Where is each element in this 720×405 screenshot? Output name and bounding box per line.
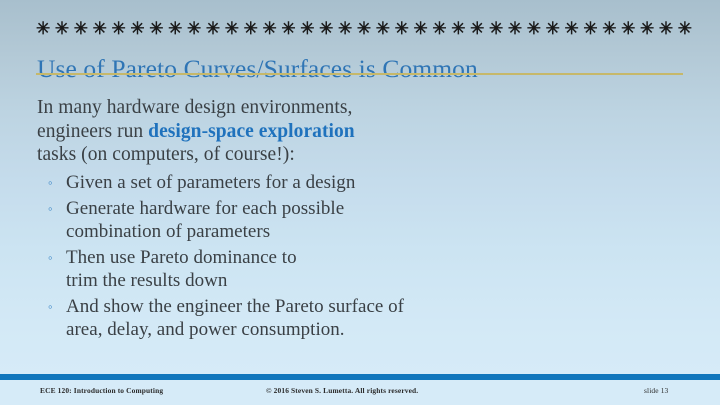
asterisk-icon: ✳ [206, 19, 220, 39]
bullet-list: ◦ Given a set of parameters for a design… [37, 171, 687, 341]
lead-line-1: In many hardware design environments, [37, 96, 687, 120]
lead-line-3: tasks (on computers, of course!): [37, 143, 687, 167]
list-item: ◦ Generate hardware for each possible co… [46, 197, 687, 243]
lead-paragraph: In many hardware design environments, en… [37, 96, 687, 167]
asterisk-icon: ✳ [508, 19, 522, 39]
asterisk-icon: ✳ [36, 19, 50, 39]
asterisk-icon: ✳ [281, 19, 295, 39]
asterisk-icon: ✳ [621, 19, 635, 39]
asterisk-icon: ✳ [602, 19, 616, 39]
asterisk-icon: ✳ [187, 19, 201, 39]
asterisk-icon: ✳ [74, 19, 88, 39]
footer-accent-bar [0, 374, 720, 380]
list-item-line: Generate hardware for each possible [66, 197, 687, 220]
list-item-line: Then use Pareto dominance to [66, 246, 687, 269]
asterisk-icon: ✳ [659, 19, 673, 39]
list-item-line: combination of parameters [66, 220, 687, 243]
asterisk-icon: ✳ [678, 19, 692, 39]
asterisk-icon: ✳ [300, 19, 314, 39]
asterisk-icon: ✳ [55, 19, 69, 39]
asterisk-icon: ✳ [149, 19, 163, 39]
footer-slide-number: slide 13 [644, 383, 668, 399]
list-item-line: trim the results down [66, 269, 687, 292]
asterisk-icon: ✳ [319, 19, 333, 39]
list-item-line: Given a set of parameters for a design [66, 171, 687, 194]
hollow-circle-bullet-icon: ◦ [48, 171, 53, 194]
list-item-line: area, delay, and power consumption. [66, 318, 687, 341]
list-item: ◦ Given a set of parameters for a design [46, 171, 687, 194]
asterisk-icon: ✳ [225, 19, 239, 39]
slide-body: In many hardware design environments, en… [37, 96, 687, 344]
asterisk-icon: ✳ [414, 19, 428, 39]
hollow-circle-bullet-icon: ◦ [48, 246, 53, 269]
asterisk-icon: ✳ [395, 19, 409, 39]
asterisk-icon: ✳ [565, 19, 579, 39]
lead-line-2-prefix: engineers run [37, 121, 148, 142]
asterisk-icon: ✳ [338, 19, 352, 39]
hollow-circle-bullet-icon: ◦ [48, 295, 53, 318]
asterisk-icon: ✳ [583, 19, 597, 39]
asterisk-icon: ✳ [640, 19, 654, 39]
footer-copyright: © 2016 Steven S. Lumetta. All rights res… [266, 383, 418, 399]
asterisk-icon: ✳ [432, 19, 446, 39]
asterisk-icon: ✳ [168, 19, 182, 39]
asterisk-divider-decoration: ✳✳✳✳✳✳✳✳✳✳✳✳✳✳✳✳✳✳✳✳✳✳✳✳✳✳✳✳✳✳✳✳✳✳✳ [36, 19, 692, 39]
slide-footer: ECE 120: Introduction to Computing © 201… [0, 383, 720, 399]
lead-highlight-term: design-space exploration [148, 121, 355, 142]
asterisk-icon: ✳ [489, 19, 503, 39]
asterisk-icon: ✳ [546, 19, 560, 39]
list-item: ◦ Then use Pareto dominance to trim the … [46, 246, 687, 292]
asterisk-icon: ✳ [244, 19, 258, 39]
list-item: ◦ And show the engineer the Pareto surfa… [46, 295, 687, 341]
footer-course-label: ECE 120: Introduction to Computing [40, 383, 163, 399]
asterisk-icon: ✳ [527, 19, 541, 39]
asterisk-icon: ✳ [376, 19, 390, 39]
asterisk-icon: ✳ [130, 19, 144, 39]
asterisk-icon: ✳ [263, 19, 277, 39]
lead-line-2: engineers run design-space exploration [37, 120, 687, 144]
page-title: Use of Pareto Curves/Surfaces is Common [37, 54, 697, 84]
hollow-circle-bullet-icon: ◦ [48, 197, 53, 220]
list-item-line: And show the engineer the Pareto surface… [66, 295, 687, 318]
title-underline-divider [36, 73, 683, 75]
presentation-slide: ✳✳✳✳✳✳✳✳✳✳✳✳✳✳✳✳✳✳✳✳✳✳✳✳✳✳✳✳✳✳✳✳✳✳✳ Use … [0, 0, 720, 405]
asterisk-icon: ✳ [93, 19, 107, 39]
asterisk-icon: ✳ [470, 19, 484, 39]
asterisk-icon: ✳ [112, 19, 126, 39]
asterisk-icon: ✳ [357, 19, 371, 39]
asterisk-icon: ✳ [451, 19, 465, 39]
